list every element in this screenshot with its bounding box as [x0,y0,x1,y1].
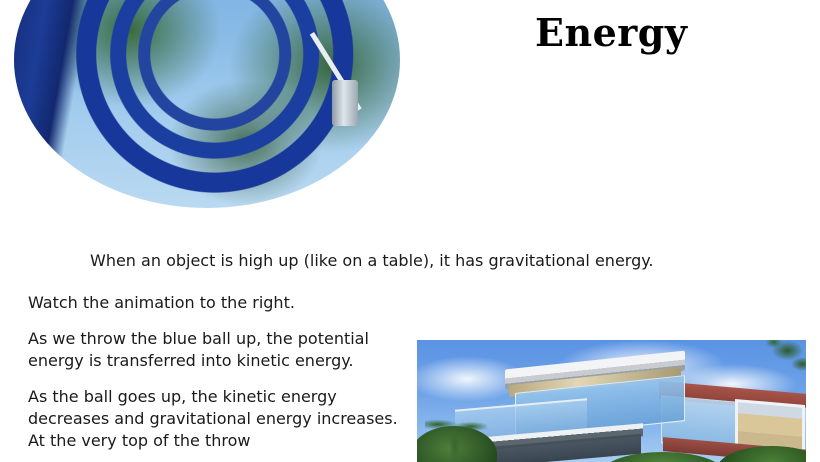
glass-house-image [417,340,806,462]
glass-house-photo [417,340,806,462]
page-canvas: Energy When an object is high up (like o… [0,0,820,462]
tree-foliage [744,340,806,388]
paragraph-ball-goes-up: As the ball goes up, the kinetic energy … [28,386,408,452]
paragraph-watch-animation: Watch the animation to the right. [28,292,408,314]
intro-sentence: When an object is high up (like on a tab… [90,250,654,272]
paragraph-throw-ball: As we throw the blue ball up, the potent… [28,328,408,372]
page-title: Energy [535,10,687,56]
palm-tree [425,412,487,462]
support-post [332,80,358,126]
roller-coaster-image [14,0,400,208]
body-text-column: Watch the animation to the right. As we … [28,292,408,462]
